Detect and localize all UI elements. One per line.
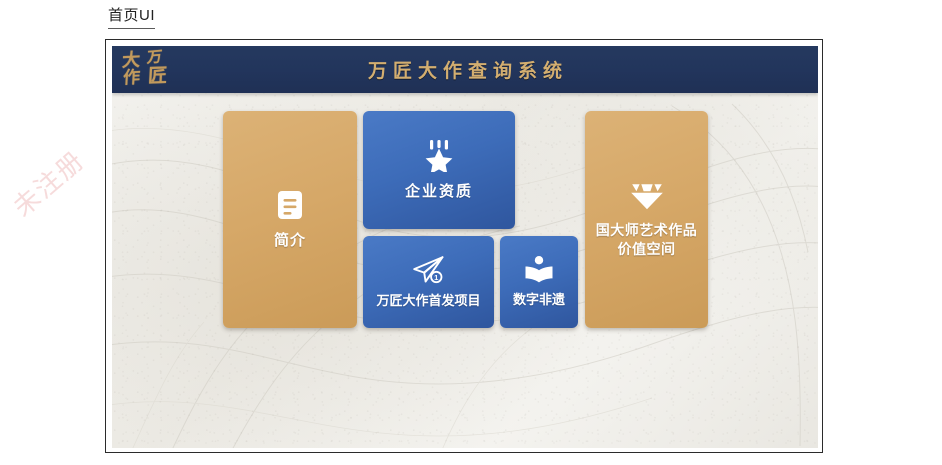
tile-digital-heritage[interactable]: 数字非遗 xyxy=(500,236,578,328)
logo-char-4: 匠 xyxy=(147,67,167,87)
tile-qualification-label: 企业资质 xyxy=(405,182,473,201)
logo-char-2: 万 xyxy=(146,49,162,65)
diamond-icon xyxy=(629,181,665,211)
logo-char-3: 作 xyxy=(123,70,141,88)
tile-first-release[interactable]: 1 万匠大作首发项目 xyxy=(363,236,494,328)
app-banner: 大 万 作 匠 万匠大作查询系统 xyxy=(112,46,818,93)
open-book-icon xyxy=(524,256,554,284)
star-medal-icon xyxy=(422,140,456,172)
app-title: 万匠大作查询系统 xyxy=(112,56,818,83)
tile-master-artwork[interactable]: 国大师艺术作品 价值空间 xyxy=(585,111,708,328)
ui-mockup-frame: 大 万 作 匠 万匠大作查询系统 xyxy=(105,39,823,453)
tile-first-release-label: 万匠大作首发项目 xyxy=(376,291,480,310)
tile-digital-heritage-label: 数字非遗 xyxy=(513,290,565,309)
app-canvas: 大 万 作 匠 万匠大作查询系统 xyxy=(112,46,818,448)
tile-intro-label: 简介 xyxy=(274,231,306,250)
brand-calligraphy-logo-icon[interactable]: 大 万 作 匠 xyxy=(121,50,181,90)
tile-intro[interactable]: 简介 xyxy=(223,111,357,328)
unregistered-watermark: 未注册 xyxy=(4,133,101,224)
tile-grid: 简介 企业资质 xyxy=(112,93,818,448)
page-title: 首页UI xyxy=(108,7,155,29)
tile-master-artwork-label: 国大师艺术作品 价值空间 xyxy=(596,221,698,259)
document-lines-icon xyxy=(277,190,303,220)
paper-plane-one-icon: 1 xyxy=(411,255,447,285)
tile-qualification[interactable]: 企业资质 xyxy=(363,111,515,229)
